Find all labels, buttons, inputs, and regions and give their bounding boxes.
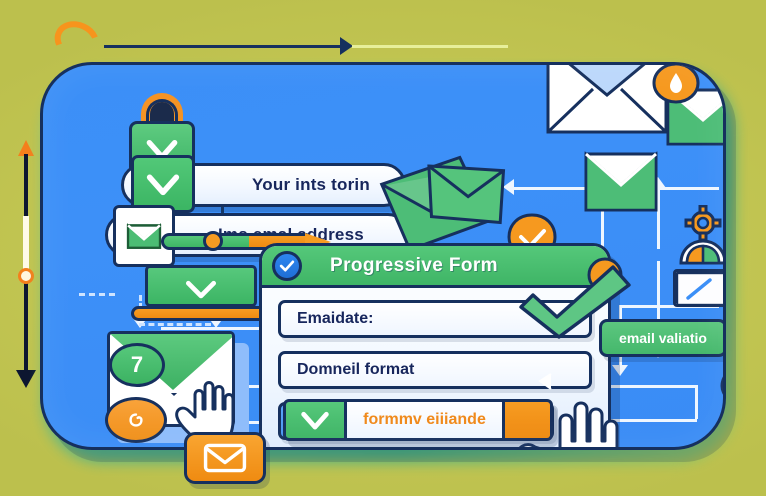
orange-drop-badge-icon xyxy=(651,62,701,109)
user-gear-icon xyxy=(677,209,719,251)
page-title: Progressive Form xyxy=(330,255,498,277)
laptop-check-icon xyxy=(131,265,271,321)
orange-ellipse-spiral-icon[interactable] xyxy=(105,397,167,443)
list-item[interactable]: 7 xyxy=(109,343,165,387)
slider-thumb[interactable] xyxy=(18,268,34,284)
middle-action-label: formmv eiiiande xyxy=(344,402,502,438)
orange-envelope-icon[interactable] xyxy=(184,432,266,484)
illustration-canvas: Your ints torin Ims emal address xyxy=(0,0,766,496)
connector-h-card xyxy=(659,187,719,190)
connector-arrow-down-right xyxy=(612,365,628,376)
connector-dash-white-left xyxy=(79,293,115,296)
status-badge: email valiatio xyxy=(599,319,726,357)
main-illustration-card: Your ints torin Ims emal address xyxy=(40,62,726,450)
form-row-label: Domneil format xyxy=(297,361,414,379)
vertical-slider-control[interactable] xyxy=(12,140,40,388)
connector-v-right-bottom xyxy=(695,385,698,419)
marker-label-7: 7 xyxy=(131,352,143,378)
cursor-arrow-icon xyxy=(535,371,557,398)
slider-down-arrow-icon[interactable] xyxy=(16,370,36,388)
input-field-label-1: Your ints torin xyxy=(252,175,370,195)
connector-dash-white-left2 xyxy=(139,323,211,326)
pen-slider-knob[interactable] xyxy=(203,231,223,251)
flow-line-top-right xyxy=(352,45,508,48)
blue-check-badge-icon xyxy=(272,251,302,281)
signature-card-icon xyxy=(673,269,726,307)
form-row-label: Emaidate: xyxy=(297,310,373,328)
envelope-green-icon xyxy=(583,151,659,213)
status-badge-label: email valiatio xyxy=(619,330,707,346)
orange-swoosh-decoration xyxy=(48,14,106,68)
hand-pointer-cursor xyxy=(505,393,633,450)
flow-line-top xyxy=(104,45,344,48)
check-chevron-icon xyxy=(286,402,344,438)
